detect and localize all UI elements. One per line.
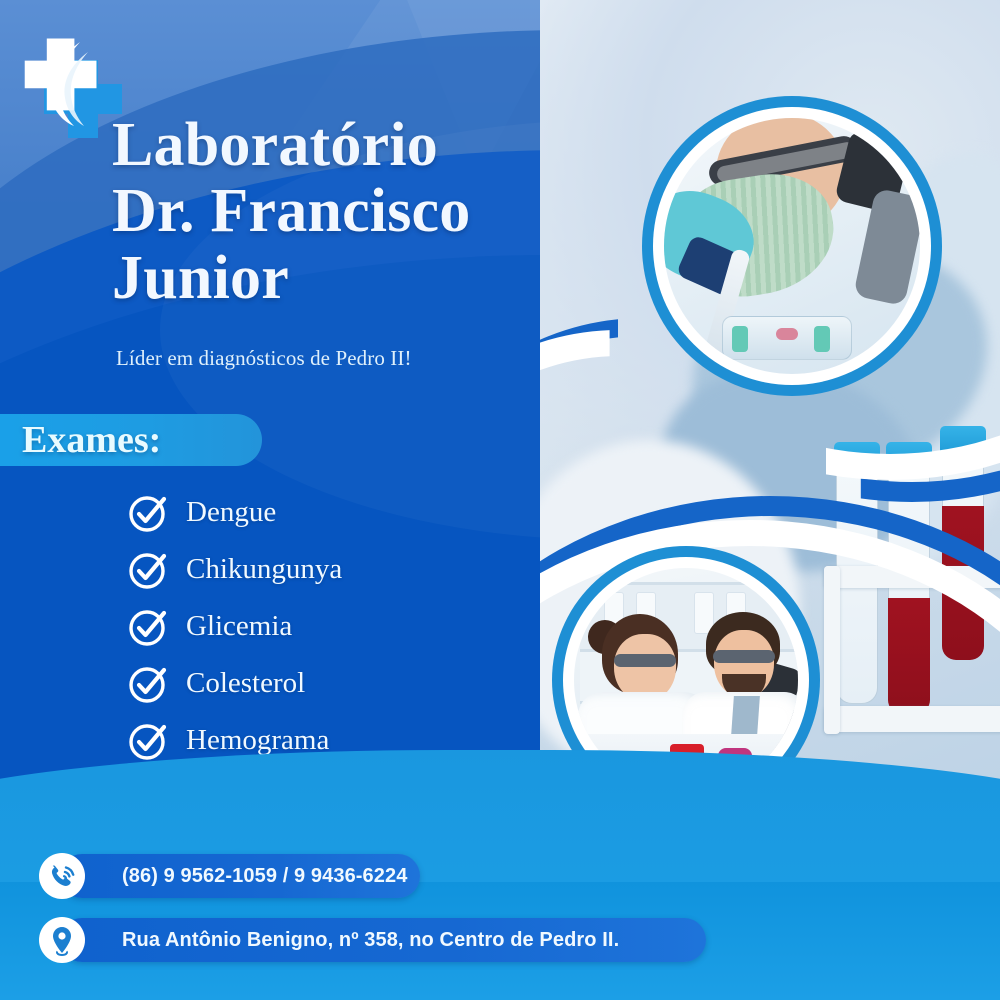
exam-label: Dengue xyxy=(186,496,276,529)
check-circle-icon xyxy=(126,491,170,535)
check-circle-icon xyxy=(126,605,170,649)
list-item: E muito mais! xyxy=(126,769,546,826)
check-circle-icon xyxy=(126,662,170,706)
page-title: Laboratório Dr. Francisco Junior xyxy=(112,112,632,311)
photo-image-top xyxy=(664,118,920,374)
list-item: Dengue xyxy=(126,484,546,541)
phone-call-icon xyxy=(38,852,86,900)
promotional-flyer: Laboratório Dr. Francisco Junior Líder e… xyxy=(0,0,1000,1000)
phone-pill[interactable]: (86) 9 9562-1059 / 9 9436-6224 xyxy=(60,854,420,898)
exam-label: Chikungunya xyxy=(186,553,342,586)
address-text: Rua Antônio Benigno, nº 358, no Centro d… xyxy=(60,929,619,952)
title-line-1: Laboratório xyxy=(112,112,632,178)
title-line-2: Dr. Francisco xyxy=(112,178,632,244)
exams-heading-banner: Exames: xyxy=(0,414,262,466)
phone-number-text: (86) 9 9562-1059 / 9 9436-6224 xyxy=(60,865,407,888)
exam-label: Glicemia xyxy=(186,610,292,643)
list-item: Colesterol xyxy=(126,655,546,712)
contact-phone[interactable]: (86) 9 9562-1059 / 9 9436-6224 xyxy=(38,852,86,900)
check-circle-icon xyxy=(126,548,170,592)
tagline: Líder em diagnósticos de Pedro II! xyxy=(116,346,412,371)
list-item: Hemograma xyxy=(126,712,546,769)
location-pin-icon xyxy=(38,916,86,964)
list-item: Glicemia xyxy=(126,598,546,655)
list-item: Chikungunya xyxy=(126,541,546,598)
lab-technician-microscope-photo xyxy=(642,96,942,396)
medical-cross-flame-logo xyxy=(18,28,122,140)
exam-label: Hemograma xyxy=(186,724,329,757)
title-line-3: Junior xyxy=(112,245,632,311)
check-circle-icon xyxy=(126,719,170,763)
exams-list: Dengue Chikungunya Glicemia xyxy=(126,484,546,826)
photo-image-bottom xyxy=(574,568,798,792)
contact-address[interactable]: Rua Antônio Benigno, nº 358, no Centro d… xyxy=(38,916,86,964)
lab-team-photo xyxy=(552,546,820,814)
address-pill[interactable]: Rua Antônio Benigno, nº 358, no Centro d… xyxy=(60,918,706,962)
check-circle-icon xyxy=(126,776,170,820)
exam-label: E muito mais! xyxy=(186,781,350,814)
exams-heading-label: Exames: xyxy=(0,418,161,462)
exam-label: Colesterol xyxy=(186,667,305,700)
